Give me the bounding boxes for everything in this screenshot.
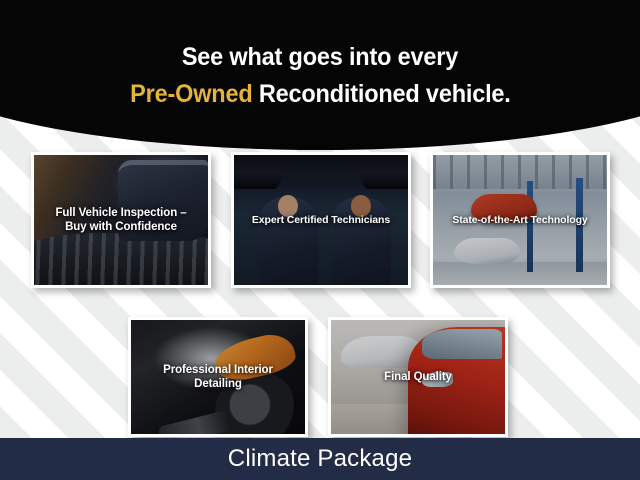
card-caption-technology: State-of-the-Art Technology	[433, 213, 607, 227]
headline-line-2-rest: Reconditioned vehicle.	[252, 80, 510, 108]
card-state-of-the-art-technology[interactable]: State-of-the-Art Technology	[430, 152, 610, 288]
card-full-vehicle-inspection[interactable]: Full Vehicle Inspection – Buy with Confi…	[31, 152, 211, 288]
caption-line-1: Full Vehicle Inspection –	[55, 207, 186, 219]
caption-line-2: Buy with Confidence	[65, 221, 177, 233]
header-content: See what goes into every Pre-Owned Recon…	[0, 0, 640, 150]
header-banner: See what goes into every Pre-Owned Recon…	[0, 0, 640, 150]
card-caption-inspection: Full Vehicle Inspection – Buy with Confi…	[34, 206, 208, 234]
card-caption-technicians: Expert Certified Technicians	[234, 213, 408, 227]
card-expert-certified-technicians[interactable]: Expert Certified Technicians	[231, 152, 411, 288]
card-professional-interior-detailing[interactable]: Professional Interior Detailing	[128, 317, 308, 437]
bottom-banner: Climate Package	[0, 438, 640, 480]
caption-line-2: Detailing	[194, 378, 242, 390]
vehicle-reconditioning-graphic: See what goes into every Pre-Owned Recon…	[0, 0, 640, 480]
headline-line-2: Pre-Owned Reconditioned vehicle.	[130, 79, 511, 110]
card-caption-quality: Final Quality	[331, 370, 505, 384]
card-caption-detailing: Professional Interior Detailing	[131, 363, 305, 391]
banner-title: Climate Package	[228, 445, 412, 473]
card-final-quality[interactable]: Final Quality	[328, 317, 508, 437]
headline-line-1: See what goes into every	[182, 42, 458, 73]
caption-line-1: Professional Interior	[163, 364, 273, 376]
headline-highlight-pre-owned: Pre-Owned	[130, 80, 252, 108]
